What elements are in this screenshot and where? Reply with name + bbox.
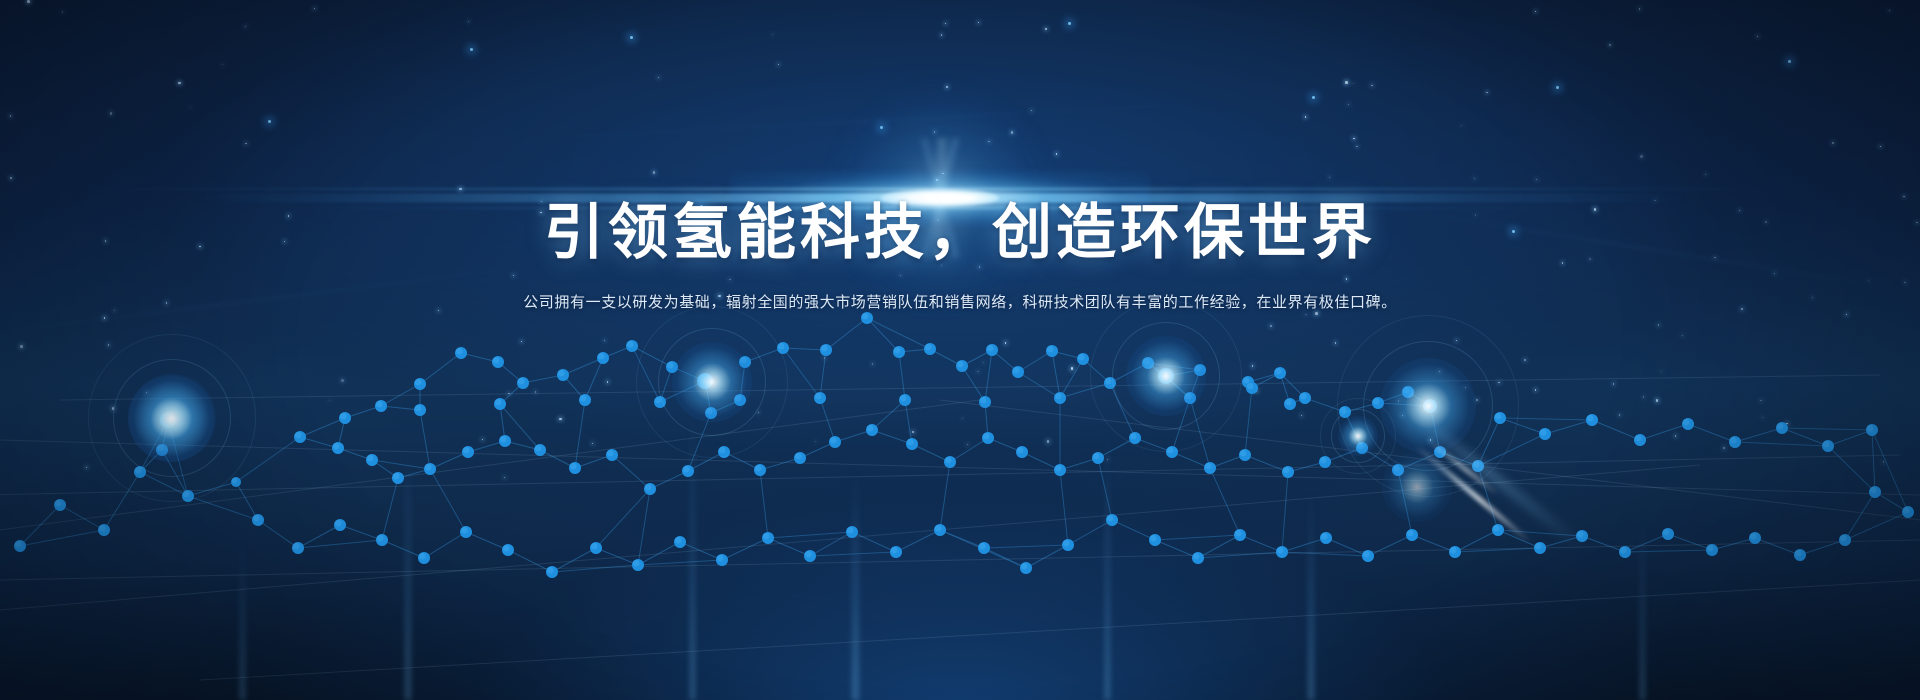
star-dot [1498, 382, 1499, 383]
star-dot [1880, 146, 1881, 147]
star-dot [978, 22, 979, 23]
star-dot [872, 363, 873, 364]
star-dot [459, 188, 462, 191]
vignette-overlay [0, 0, 1920, 700]
star-spark [268, 120, 271, 123]
star-dot [482, 439, 483, 440]
star-spark [1312, 96, 1315, 99]
star-dot [942, 173, 943, 174]
star-dot [1252, 365, 1253, 366]
star-dot [1056, 153, 1057, 154]
star-dot [1619, 414, 1620, 415]
glowing-node-ring [1112, 322, 1220, 430]
star-dot [245, 26, 246, 27]
star-dot [1883, 461, 1884, 462]
star-dot [27, 0, 30, 3]
star-dot [1760, 400, 1761, 401]
star-dot [1047, 440, 1050, 443]
star-dot [1071, 367, 1074, 370]
star-dot [1356, 146, 1357, 147]
star-dot [1536, 179, 1537, 180]
star-dot [222, 64, 223, 65]
star-dot [508, 393, 509, 394]
star-dot [1005, 342, 1006, 343]
page-subtitle: 公司拥有一支以研发为基础，辐射全国的强大市场营销队伍和销售网络，科研技术团队有丰… [0, 291, 1920, 315]
star-spark [1068, 22, 1071, 25]
star-dot [1757, 36, 1758, 37]
star-dot [946, 86, 947, 87]
glowing-node-ring [1363, 341, 1493, 471]
star-dot [983, 362, 984, 363]
star-dot [1613, 383, 1614, 384]
glowing-node-ring-outer [1090, 300, 1242, 452]
glowing-node-ring [113, 359, 232, 478]
page-title: 引领氢能科技，创造环保世界 [0, 198, 1920, 269]
star-dot [1305, 116, 1306, 117]
right-flare-bloom [1382, 452, 1452, 522]
star-dot [1476, 399, 1477, 400]
star-dot [146, 392, 147, 393]
star-dot [1430, 439, 1431, 440]
star-dot [1016, 370, 1017, 371]
star-dot [1353, 83, 1354, 84]
star-dot [977, 371, 978, 372]
star-spark [1788, 60, 1791, 63]
star-dot [592, 443, 593, 444]
star-dot [653, 171, 656, 174]
star-dot [1705, 174, 1706, 175]
star-dot [658, 77, 659, 78]
light-shaft-3 [852, 470, 859, 700]
star-dot [1461, 125, 1462, 126]
glowing-node [1338, 416, 1378, 456]
star-spark [630, 36, 633, 39]
star-dot [1256, 390, 1257, 391]
star-dot [1832, 142, 1833, 143]
star-dot [1640, 155, 1643, 158]
star-spark [880, 126, 883, 129]
star-dot [758, 412, 759, 413]
hero-banner: 引领氢能科技，创造环保世界 公司拥有一支以研发为基础，辐射全国的强大市场营销队伍… [0, 0, 1920, 700]
star-dot [1889, 10, 1890, 11]
light-shaft-4 [1105, 430, 1110, 700]
left-flare-bloom [128, 376, 214, 462]
star-dot [1456, 340, 1457, 341]
star-dot [1011, 131, 1014, 134]
star-dot [1661, 371, 1662, 372]
star-dot [1643, 396, 1644, 397]
glowing-node-ring-outer [88, 334, 255, 501]
star-dot [607, 381, 608, 382]
star-dot [1371, 85, 1372, 86]
star-dot [504, 477, 505, 478]
star-dot [1107, 459, 1108, 460]
star-dot [772, 34, 773, 35]
star-dot [988, 141, 989, 142]
star-dot [1335, 342, 1336, 343]
glowing-node-ring-outer [1337, 315, 1519, 497]
star-dot [1723, 447, 1724, 448]
star-dot [1762, 417, 1763, 418]
star-dot [1301, 415, 1302, 416]
star-dot [1656, 399, 1659, 402]
star-dot [778, 64, 779, 65]
star-dot [1535, 11, 1536, 12]
star-dot [1045, 28, 1046, 29]
star-dot [1398, 400, 1399, 401]
light-shaft-1 [405, 450, 411, 700]
star-dot [190, 107, 191, 108]
glowing-node-ring [658, 328, 766, 436]
glowing-node-ring [1331, 409, 1385, 463]
star-dot [1786, 423, 1787, 424]
star-dot [815, 441, 816, 442]
glowing-node [128, 374, 216, 462]
star-dot [535, 391, 536, 392]
hero-text-block: 引领氢能科技，创造环保世界 公司拥有一支以研发为基础，辐射全国的强大市场营销队伍… [0, 198, 1920, 315]
star-dot [1682, 335, 1683, 336]
star-dot [1535, 389, 1536, 390]
star-dot [945, 23, 946, 24]
star-dot [108, 344, 109, 345]
light-beam-upper [421, 96, 1320, 145]
star-dot [1345, 81, 1348, 84]
star-dot [104, 317, 105, 318]
light-shaft-6 [1640, 520, 1645, 700]
glowing-node [1380, 358, 1476, 454]
star-dot [86, 467, 87, 468]
star-dot [10, 115, 11, 116]
star-dot [936, 179, 937, 180]
star-dot [1658, 324, 1659, 325]
starfield [0, 0, 1920, 700]
star-dot [329, 400, 330, 401]
star-dot [934, 131, 935, 132]
star-dot [62, 11, 63, 12]
star-dot [1465, 387, 1466, 388]
star-dot [967, 444, 968, 445]
right-flare-streak [1414, 444, 1531, 543]
star-dot [1639, 8, 1640, 9]
star-dot [1524, 359, 1527, 362]
star-dot [824, 357, 825, 358]
star-spark [1556, 86, 1559, 89]
star-dot [178, 82, 181, 85]
star-dot [10, 177, 11, 178]
star-dot [20, 345, 23, 348]
star-dot [962, 418, 963, 419]
star-dot [1474, 178, 1475, 179]
star-dot [314, 8, 315, 9]
star-dot [1439, 371, 1440, 372]
star-dot [604, 340, 605, 341]
light-shaft-2 [690, 410, 695, 700]
star-dot [1353, 138, 1354, 139]
star-dot [112, 407, 115, 410]
star-dot [468, 21, 469, 22]
star-dot [912, 431, 913, 432]
star-dot [1348, 104, 1349, 105]
star-dot [561, 372, 564, 375]
star-dot [1329, 177, 1330, 178]
star-dot [1609, 44, 1610, 45]
glowing-node-ring-outer [1320, 398, 1396, 474]
right-flare-soft [1393, 397, 1587, 551]
star-spark [470, 48, 473, 51]
star-dot [559, 418, 562, 421]
star-dot [1170, 452, 1171, 453]
node-network-visual [0, 280, 1920, 700]
star-dot [521, 341, 522, 342]
star-dot [941, 34, 942, 35]
glowing-node-ring-outer [636, 306, 788, 458]
glowing-node [1126, 336, 1206, 416]
light-shaft-5 [1308, 490, 1314, 700]
star-dot [110, 112, 113, 115]
star-dot [1402, 415, 1403, 416]
star-dot [341, 379, 344, 382]
star-dot [1675, 435, 1676, 436]
star-dot [1031, 110, 1032, 111]
light-shaft-7 [240, 540, 245, 700]
right-flare-streak-2 [1427, 439, 1500, 497]
star-dot [245, 143, 246, 144]
star-dot [1270, 325, 1271, 326]
star-dot [1486, 92, 1487, 93]
glowing-node [672, 342, 752, 422]
